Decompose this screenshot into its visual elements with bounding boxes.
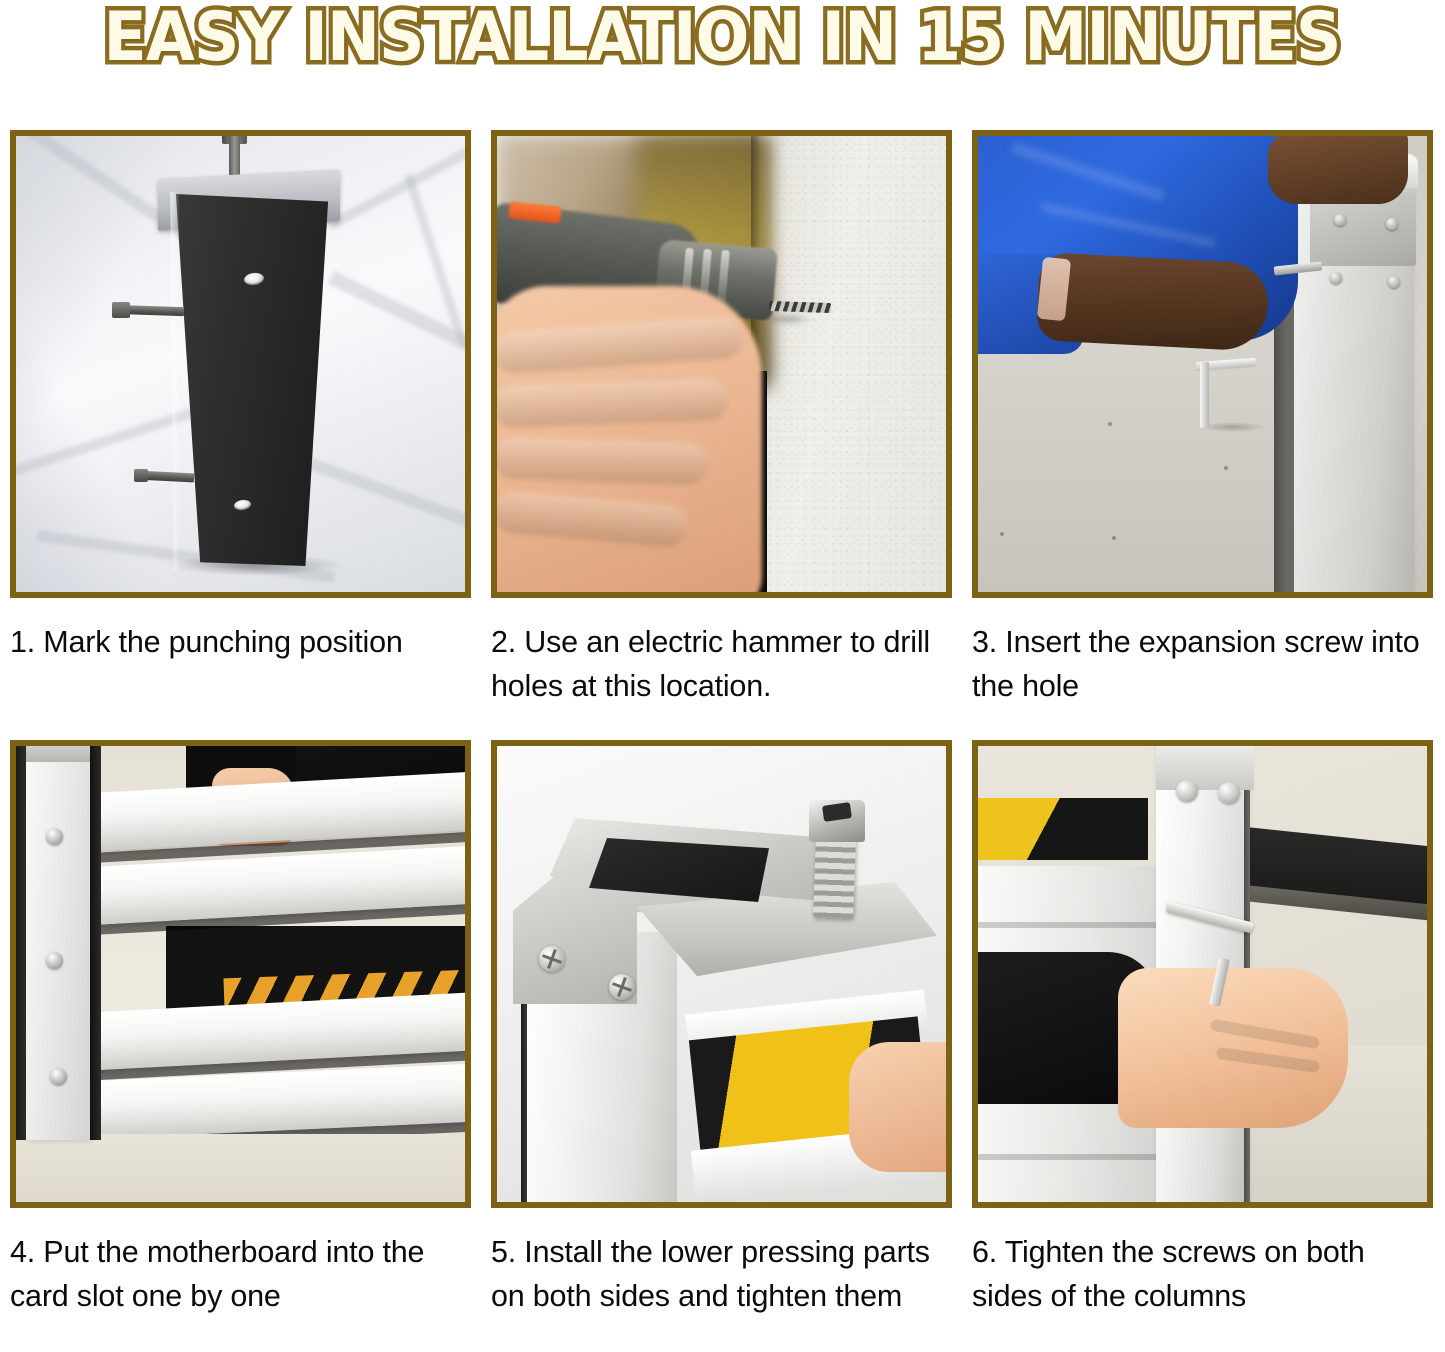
step-caption-6: 6. Tighten the screws on both sides of t… [972,1230,1432,1318]
column-top-cap [1156,746,1254,790]
side-bolt-lower-head [134,469,148,482]
step-photo-2 [491,130,952,598]
steps-grid: 1. Mark the punching position [0,100,1445,1352]
plate-screw [1334,214,1346,226]
finger [497,436,709,485]
textured-wall [755,136,946,592]
page-title: EASY INSTALLATION IN 15 MINUTES [104,2,1341,74]
drill-bit [769,301,831,313]
plate-screw [1330,272,1342,284]
side-bolt-upper-head [112,302,130,318]
top-stud-shaft [229,136,240,180]
step-photo-1 [10,130,471,598]
installer-finger [849,1042,946,1172]
finger [497,378,729,428]
step-card-1: 1. Mark the punching position [0,130,481,740]
column-screw [50,1068,67,1085]
step-card-5: 5. Install the lower pressing parts on b… [481,740,962,1350]
ground-speck [1224,466,1228,470]
step-caption-2: 2. Use an electric hammer to drill holes… [491,620,951,708]
column-cap [26,746,90,762]
step-card-2: 2. Use an electric hammer to drill holes… [481,130,962,740]
column-screw [46,828,63,845]
step-photo-4-scene [16,746,465,1202]
header-banner: EASY INSTALLATION IN 15 MINUTES [0,0,1445,100]
ground-speck [1108,422,1112,426]
hazard-stripe-tape [978,798,1148,860]
step-caption-5: 5. Install the lower pressing parts on b… [491,1230,951,1318]
installation-guide-page: EASY INSTALLATION IN 15 MINUTES [0,0,1445,1352]
phillips-screw [539,946,565,972]
allen-key-shaft [1200,362,1209,428]
allen-key-shadow [1200,422,1266,432]
step-photo-6-scene [978,746,1427,1202]
panel-seam [978,1154,1162,1160]
plate-screw [1388,276,1400,288]
column-screw [46,952,63,969]
step-photo-4 [10,740,471,1208]
ground-speck [1000,532,1004,536]
worker-upper-hand [1268,136,1408,204]
steps-row-bottom: 4. Put the motherboard into the card slo… [0,740,1445,1350]
step-card-4: 4. Put the motherboard into the card slo… [0,740,481,1350]
drill-dust-shadow [765,314,813,324]
column-cap-screw [1176,780,1198,802]
step-photo-3 [972,130,1433,598]
plate-screw [1386,218,1398,230]
step-photo-1-scene [16,136,465,592]
panel-seam [978,922,1162,928]
step-photo-5-scene [497,746,946,1202]
phillips-screw [609,974,635,1000]
step-photo-6 [972,740,1433,1208]
step-photo-5 [491,740,952,1208]
steps-row-top: 1. Mark the punching position [0,130,1445,740]
ground-speck [1112,536,1116,540]
column-slot-gap [90,746,101,1140]
step-card-6: 6. Tighten the screws on both sides of t… [962,740,1443,1350]
step-photo-3-scene [978,136,1427,592]
step-caption-1: 1. Mark the punching position [10,620,470,664]
step-photo-2-scene [497,136,946,592]
column-cap-screw [1218,782,1240,804]
step-card-3: 3. Insert the expansion screw into the h… [962,130,1443,740]
worker-arm [1036,252,1270,352]
step-caption-4: 4. Put the motherboard into the card slo… [10,1230,470,1318]
step-caption-3: 3. Insert the expansion screw into the h… [972,620,1432,708]
floor-area [16,1134,465,1202]
